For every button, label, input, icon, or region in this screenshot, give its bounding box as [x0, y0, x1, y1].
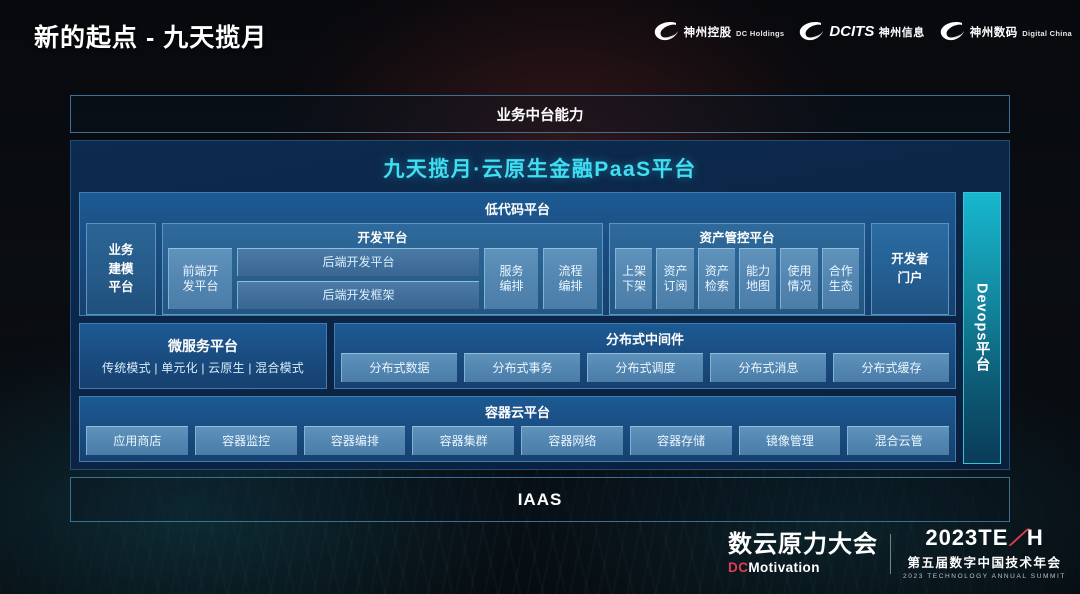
tech-summit-cn: 第五届数字中国技术年会	[908, 552, 1062, 571]
distributed-middleware-tiles: 分布式数据 分布式事务 分布式调度 分布式消息 分布式缓存	[341, 353, 949, 382]
conference-brand-en-dc: DC	[728, 560, 748, 575]
distributed-middleware-title: 分布式中间件	[341, 327, 949, 353]
tile-backend-dev-framework[interactable]: 后端开发框架	[237, 281, 479, 309]
tile-container-network[interactable]: 容器网络	[521, 426, 623, 455]
logo-name-en: Digital China	[1022, 29, 1072, 38]
asset-control-tiles: 上架 下架 资产 订阅 资产 检索 能力 地图 使用 情况 合作 生态	[610, 248, 864, 314]
tile-image-management[interactable]: 镜像管理	[739, 426, 841, 455]
tech-summit-year: 2023	[925, 527, 978, 549]
tile-backend-dev-platform[interactable]: 后端开发平台	[237, 248, 479, 276]
tile-process-orchestration[interactable]: 流程 编排	[543, 248, 597, 309]
brand-divider	[890, 534, 891, 574]
tile-container-monitoring[interactable]: 容器监控	[195, 426, 297, 455]
lowcode-platform-title: 低代码平台	[86, 197, 949, 223]
dev-platform-title: 开发平台	[163, 224, 602, 248]
tile-service-orchestration[interactable]: 服务 编排	[484, 248, 538, 309]
tile-partner-ecosystem[interactable]: 合作 生态	[822, 248, 859, 309]
logo-name-en: DC Holdings	[736, 29, 784, 38]
iaas-bar: IAAS	[70, 477, 1010, 522]
microservice-platform-band[interactable]: 微服务平台 传统模式 | 单元化 | 云原生 | 混合模式	[79, 323, 327, 389]
developer-portal-box[interactable]: 开发者 门户	[871, 223, 949, 315]
container-cloud-platform-title: 容器云平台	[86, 400, 949, 426]
tech-summit-title: 2023TE⟋H	[925, 527, 1043, 549]
logo-text: 神州控股 DC Holdings	[684, 24, 785, 41]
tile-distributed-messaging[interactable]: 分布式消息	[710, 353, 826, 382]
paas-platform-panel: 九天揽月·云原生金融PaaS平台 低代码平台 业务 建模 平台 开发平台 前端开…	[70, 140, 1010, 470]
tile-asset-subscription[interactable]: 资产 订阅	[656, 248, 693, 309]
logo-dcits: DCITS 神州信息	[798, 20, 924, 44]
container-cloud-platform-band: 容器云平台 应用商店 容器监控 容器编排 容器集群 容器网络 容器存储 镜像管理…	[79, 396, 956, 462]
tile-frontend-dev-platform[interactable]: 前端开 发平台	[168, 248, 232, 309]
tile-hybrid-cloud-management[interactable]: 混合云管	[847, 426, 949, 455]
asset-control-platform-panel: 资产管控平台 上架 下架 资产 订阅 资产 检索 能力 地图 使用 情况 合作 …	[609, 223, 865, 315]
tile-container-orchestration[interactable]: 容器编排	[304, 426, 406, 455]
conference-brand: 数云原力大会 DCMotivation	[728, 533, 878, 575]
swirl-logo-icon	[939, 20, 965, 44]
devops-platform-label: Devops平台	[972, 283, 993, 372]
devops-platform-bar[interactable]: Devops平台	[963, 192, 1001, 464]
tech-summit-word-a: TE	[978, 527, 1008, 549]
microservice-platform-title: 微服务平台	[168, 336, 238, 356]
lowcode-platform-band: 低代码平台 业务 建模 平台 开发平台 前端开 发平台 后端开发平台 后端开发框…	[79, 192, 956, 316]
tile-distributed-scheduling[interactable]: 分布式调度	[587, 353, 703, 382]
tile-asset-search[interactable]: 资产 检索	[698, 248, 735, 309]
logo-text: DCITS 神州信息	[829, 24, 924, 41]
middle-layer-row: 微服务平台 传统模式 | 单元化 | 云原生 | 混合模式 分布式中间件 分布式…	[79, 323, 956, 389]
logo-name-cn: DCITS	[829, 23, 874, 40]
logo-name-cn: 神州控股	[684, 27, 732, 39]
paas-platform-body: 低代码平台 业务 建模 平台 开发平台 前端开 发平台 后端开发平台 后端开发框…	[79, 192, 1001, 464]
tile-listing-delisting[interactable]: 上架 下架	[615, 248, 652, 309]
tile-capability-map[interactable]: 能力 地图	[739, 248, 776, 309]
tech-summit-word-b: H	[1027, 527, 1044, 549]
tech-summit-en: 2023 TECHNOLOGY ANNUAL SUMMIT	[903, 573, 1066, 580]
container-cloud-tiles: 应用商店 容器监控 容器编排 容器集群 容器网络 容器存储 镜像管理 混合云管	[86, 426, 949, 455]
swirl-logo-icon	[798, 20, 824, 44]
logo-bar: 神州控股 DC Holdings DCITS 神州信息 神州数码 Digital…	[653, 20, 1072, 44]
lowcode-platform-row: 业务 建模 平台 开发平台 前端开 发平台 后端开发平台 后端开发框架 服务 编…	[86, 223, 949, 315]
paas-platform-title: 九天揽月·云原生金融PaaS平台	[79, 147, 1001, 192]
layer-stack: 低代码平台 业务 建模 平台 开发平台 前端开 发平台 后端开发平台 后端开发框…	[79, 192, 956, 464]
tile-distributed-transaction[interactable]: 分布式事务	[464, 353, 580, 382]
page-title: 新的起点 - 九天揽月	[34, 18, 267, 54]
logo-name-cn: 神州数码	[970, 27, 1018, 39]
conference-brand-en-rest: Motivation	[748, 560, 820, 575]
logo-digital-china: 神州数码 Digital China	[939, 20, 1072, 44]
tile-container-storage[interactable]: 容器存储	[630, 426, 732, 455]
dev-platform-tiles: 前端开 发平台 后端开发平台 后端开发框架 服务 编排 流程 编排	[163, 248, 602, 314]
swirl-logo-icon	[653, 20, 679, 44]
distributed-middleware-band: 分布式中间件 分布式数据 分布式事务 分布式调度 分布式消息 分布式缓存	[334, 323, 956, 389]
tech-summit-brand: 2023TE⟋H 第五届数字中国技术年会 2023 TECHNOLOGY ANN…	[903, 527, 1066, 580]
business-middle-platform-bar: 业务中台能力	[70, 95, 1010, 133]
logo-text: 神州数码 Digital China	[970, 24, 1072, 41]
tile-app-store[interactable]: 应用商店	[86, 426, 188, 455]
tile-usage-status[interactable]: 使用 情况	[780, 248, 817, 309]
conference-brand-cn: 数云原力大会	[728, 533, 878, 557]
microservice-platform-subtitle: 传统模式 | 单元化 | 云原生 | 混合模式	[102, 359, 304, 376]
dev-platform-panel: 开发平台 前端开 发平台 后端开发平台 后端开发框架 服务 编排 流程 编排	[162, 223, 603, 315]
logo-name-en: 神州信息	[879, 27, 925, 39]
tile-distributed-cache[interactable]: 分布式缓存	[833, 353, 949, 382]
swirl-logo-icon: ⟋	[1009, 527, 1025, 549]
tile-distributed-data[interactable]: 分布式数据	[341, 353, 457, 382]
logo-dc-holdings: 神州控股 DC Holdings	[653, 20, 785, 44]
backend-tile-column: 后端开发平台 后端开发框架	[237, 248, 479, 309]
business-modeling-platform-box[interactable]: 业务 建模 平台	[86, 223, 156, 315]
architecture-diagram: 业务中台能力 九天揽月·云原生金融PaaS平台 低代码平台 业务 建模 平台 开…	[70, 95, 1010, 525]
tile-container-cluster[interactable]: 容器集群	[412, 426, 514, 455]
conference-brand-en: DCMotivation	[728, 560, 820, 575]
footer-branding: 数云原力大会 DCMotivation 2023TE⟋H 第五届数字中国技术年会…	[728, 527, 1066, 580]
asset-control-platform-title: 资产管控平台	[610, 224, 864, 248]
